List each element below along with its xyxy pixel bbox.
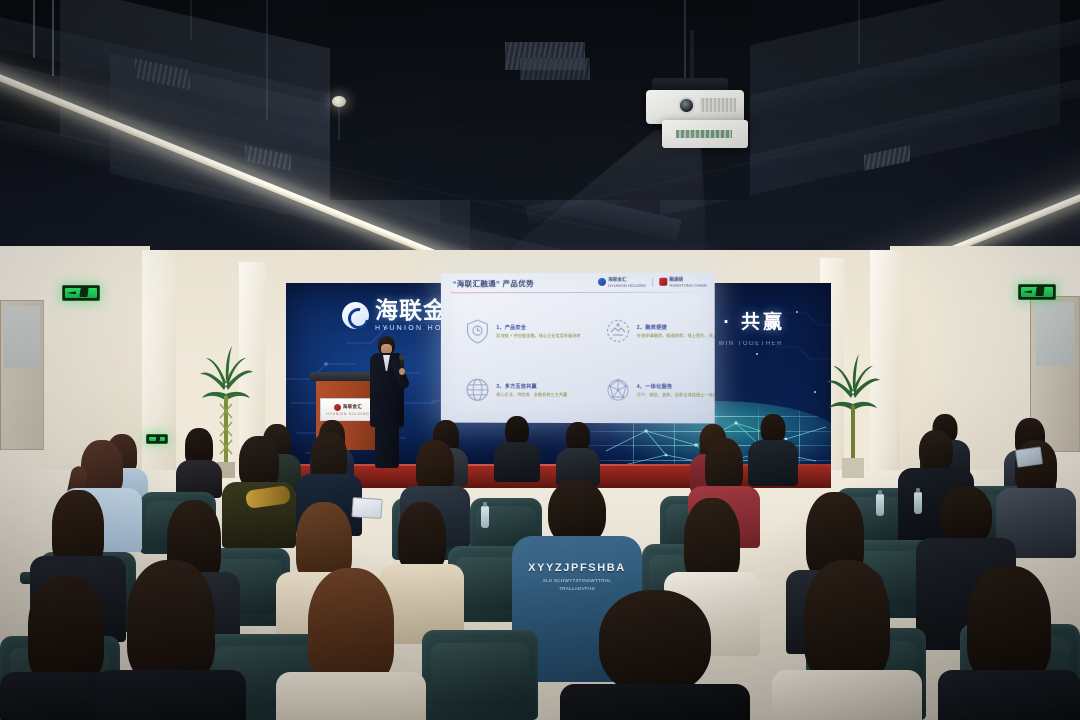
person-torso (276, 672, 426, 720)
slide-quadrant-4: 4、一体化服务 开户、授信、放款、还款全流程线上一体化服务 (581, 360, 715, 420)
brand-divider (652, 278, 653, 287)
podium-brand-cn: 海联金汇 (343, 404, 363, 410)
tablet-device[interactable] (1015, 446, 1043, 467)
projection-screen: “海联汇融通” 产品优势 海联金汇 HYUNION HOLDING 融通链 RO… (441, 273, 715, 424)
globe-network-icon (465, 376, 491, 402)
slide-brand-2-en: RONGTONG CHAIN (669, 282, 706, 287)
slide-brand-2: 融通链 RONGTONG CHAIN (659, 277, 706, 288)
running-man-exit-icon (79, 288, 88, 297)
audience-person (96, 560, 246, 720)
person-torso (96, 670, 246, 720)
jacket-print-main: XYYZJPFSHBA (528, 562, 626, 574)
slide-content-grid: 1、产品安全 区块链 + 供应链金融，核心企业信用多级流转 2、融资便捷 在线申… (441, 301, 715, 420)
right-door-glass (1036, 302, 1074, 366)
slide-brand-1-en: HYUNION HOLDING (608, 283, 646, 288)
blockchain-nodes-icon (605, 377, 631, 403)
presenter-hand (399, 368, 405, 375)
brand-circle-icon (598, 278, 606, 286)
quadrant-3-body: 核心企业、供应商、金融机构三方共赢 (496, 391, 567, 397)
running-man-exit-icon (1035, 287, 1044, 296)
projector-vent (700, 98, 736, 112)
quadrant-4-heading: 4、一体化服务 (637, 383, 715, 390)
person-hair (967, 566, 1051, 682)
person-hair (127, 560, 215, 684)
slide-header: “海联汇融通” 产品优势 海联金汇 HYUNION HOLDING 融通链 RO… (441, 273, 715, 297)
potted-palm-icon (824, 348, 882, 478)
brand-square-icon (659, 278, 667, 286)
slide-title: “海联汇融通” 产品优势 (453, 278, 534, 289)
person-head (940, 486, 992, 546)
audience-person (176, 428, 222, 494)
conference-room-photo: 海联金汇 HYUNION HOLDING · 共享 · 共赢 SHARE AND… (0, 0, 1080, 720)
quadrant-3-heading: 3、多方互信共赢 (496, 382, 567, 389)
exit-sign-left (62, 285, 100, 301)
shield-lock-icon (465, 318, 491, 344)
slide-title-underline (451, 292, 705, 294)
jacket-print-sub-1: XLS SCHWYTZTINSWTTRHL (543, 578, 612, 584)
exit-sign-back (146, 434, 168, 444)
person-hair (398, 502, 446, 572)
slide-quadrant-3: 3、多方互信共赢 核心企业、供应商、金融机构三方共赢 (441, 360, 581, 419)
slide-brand-1: 海联金汇 HYUNION HOLDING (598, 277, 646, 288)
ceiling-hanger-rod (33, 0, 35, 58)
person-torso (494, 442, 540, 482)
backdrop-star (814, 391, 816, 393)
slide-quadrant-1: 1、产品安全 区块链 + 供应链金融，核心企业信用多级流转 (441, 301, 581, 360)
ceiling-hanger-rod (858, 0, 860, 64)
audience-person (938, 566, 1080, 720)
backdrop-star (756, 353, 758, 355)
backdrop-star (796, 311, 798, 313)
person-hair (308, 568, 394, 686)
person-hair-ponytail (804, 560, 890, 682)
projector-label (676, 130, 732, 138)
quadrant-1-heading: 1、产品安全 (496, 324, 580, 331)
ceiling-projector-mount (690, 30, 694, 82)
person-hair-ponytail (416, 440, 454, 492)
ceiling-hanger-rod (266, 0, 268, 120)
ceiling-hanger-rod (684, 0, 686, 88)
person-hair (239, 436, 279, 488)
microphone-head-icon (399, 354, 405, 360)
left-door-glass (4, 306, 40, 368)
person-hair (28, 576, 104, 686)
person-hair-ponytail (705, 438, 743, 492)
quadrant-2-body: 在线申请融资，极速放款；线上签约、线上放款、随借随还 (637, 332, 715, 338)
audience-person (560, 590, 750, 720)
podium-brand-en: HYUNION HOLDING (326, 412, 369, 416)
handshake-gear-icon (605, 317, 631, 343)
person-torso (560, 684, 750, 720)
audience-person (494, 416, 540, 482)
ceiling-hanger-rod (52, 0, 54, 76)
audience-chair (422, 630, 538, 720)
ceiling-hanger-rod (190, 0, 192, 40)
slide-brand-row: 海联金汇 HYUNION HOLDING 融通链 RONGTONG CHAIN (598, 277, 706, 288)
presenter-legs (375, 422, 399, 468)
slide-quadrant-2: 2、融资便捷 在线申请融资，极速放款；线上签约、线上放款、随借随还 (581, 301, 715, 360)
quadrant-1-body: 区块链 + 供应链金融，核心企业信用多级流转 (496, 333, 580, 339)
person-hair (311, 432, 347, 480)
person-torso (772, 670, 922, 720)
potted-palm-right (824, 348, 882, 478)
exit-sign-right (1018, 284, 1056, 300)
ceiling-air-vent (520, 58, 590, 80)
audience-person (556, 422, 600, 486)
person-head (919, 430, 953, 472)
water-bottle (481, 506, 489, 528)
person-torso (938, 670, 1080, 720)
audience-person (772, 560, 922, 720)
audience-person (276, 568, 426, 720)
quadrant-4-body: 开户、授信、放款、还款全流程线上一体化服务 (637, 392, 715, 398)
spotlight-stem (338, 106, 340, 140)
projector-lens (678, 97, 695, 114)
quadrant-2-heading: 2、融资便捷 (637, 323, 715, 330)
hyunion-swirl-logo-icon (342, 302, 369, 329)
person-head (599, 590, 711, 694)
podium-logo-icon (334, 404, 341, 411)
